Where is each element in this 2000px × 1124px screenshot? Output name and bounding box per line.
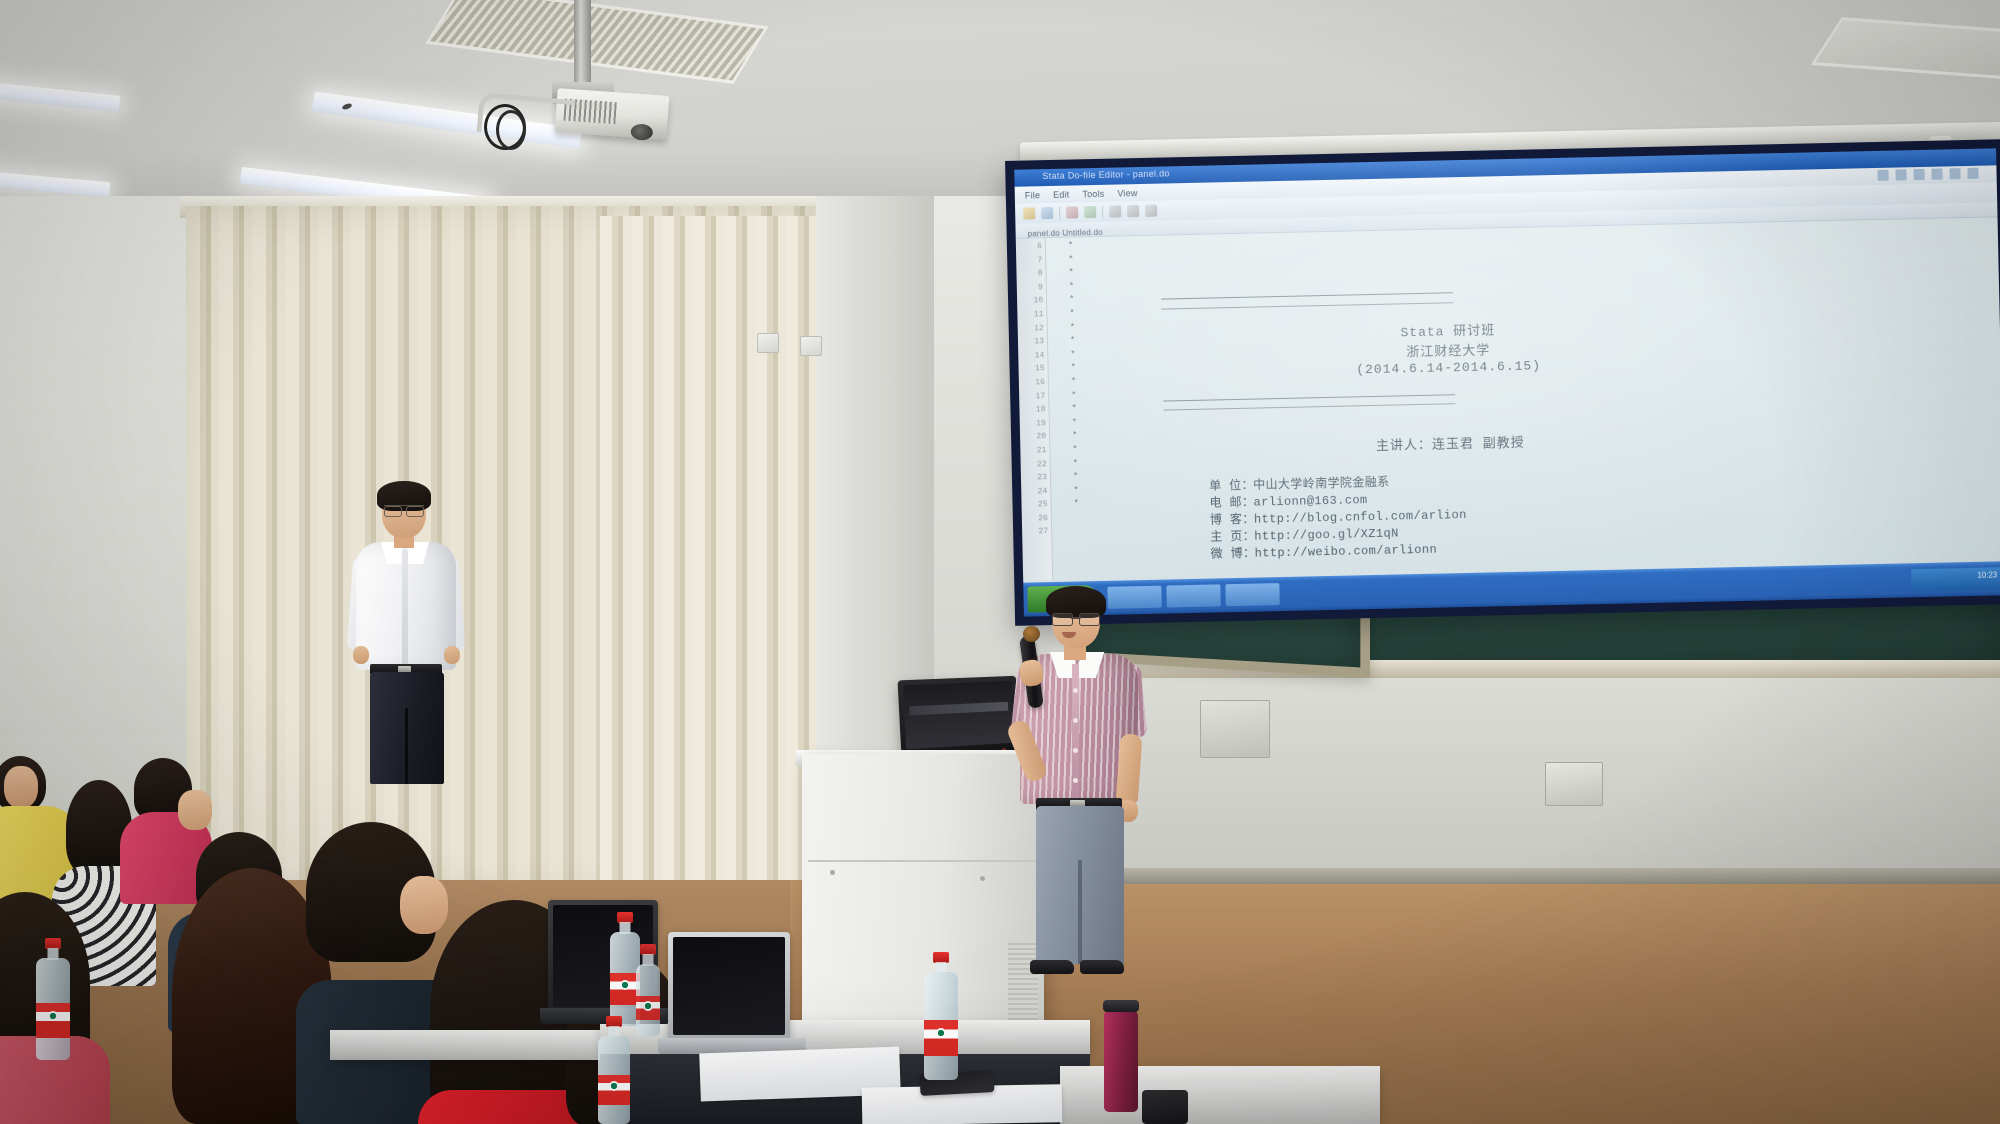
thermos-lid [1103,1000,1139,1012]
slide-contact-value: http://goo.gl/XZ1qN [1254,526,1399,543]
editor-line-number: 27 [1038,526,1048,540]
toolbar-right-icons [1877,168,1978,181]
slide-contact-value: http://blog.cnfol.com/arlion [1254,508,1467,527]
slide-rule-mid-1 [1163,394,1455,401]
projected-image: Stata Do-file Editor - panel.do File Edi… [1014,148,2000,616]
menu-item-tools[interactable]: Tools [1082,188,1104,198]
help-icon[interactable] [1967,168,1978,179]
editor-comment-marker: * [1070,348,1084,362]
glasses-icon [384,505,424,514]
underline-icon[interactable] [1913,169,1924,180]
standing-man-white-shirt [350,486,462,786]
copy-icon[interactable] [1127,205,1139,217]
podium-screw [980,876,985,881]
slide-rule-top-2 [1161,302,1453,309]
podium-screw [830,870,835,875]
dark-cup[interactable] [1142,1090,1188,1124]
editor-comment-marker: * [1071,389,1085,403]
bottle-label [924,1020,958,1057]
editor-comment-marker: * [1073,470,1087,484]
editor-line-number: 17 [1035,390,1045,404]
toolbar-separator [1059,206,1060,219]
slide-contact-block: 单 位：中山大学岭南学院金融系电 邮：arlionn@163.com博 客：ht… [1209,473,1468,564]
editor-comment-marker: * [1069,307,1083,321]
shirt-button [1073,748,1078,753]
dark-trousers [370,672,444,784]
run-icon[interactable] [1931,169,1942,180]
editor-line-number-gutter: 6789101112131415161718192021222324252627 [1016,238,1053,581]
shirt-button [1073,778,1078,783]
podium-panel-seam [808,860,1038,862]
editor-line-number: 6 [1037,240,1042,254]
editor-comment-marker: * [1072,430,1086,444]
slide-contact-label: 单 位： [1209,478,1253,496]
wall-access-panel[interactable] [1200,700,1270,758]
editor-line-number: 7 [1037,254,1042,268]
presenter-with-microphone [1018,592,1148,982]
print-icon[interactable] [1084,206,1096,218]
vertical-window-blinds-right [600,216,825,916]
audience-face [400,876,448,934]
editor-line-number: 21 [1037,444,1047,458]
editor-line-number: 20 [1036,430,1046,444]
thermos-flask[interactable] [1104,1010,1138,1112]
editor-comment-marker: * [1070,334,1084,348]
slide-contact-label: 博 客： [1210,512,1254,530]
editor-line-number: 18 [1036,403,1046,417]
editor-line-number: 12 [1034,322,1044,336]
slide-speaker-line: 主讲人：连玉君 副教授 [1240,429,1660,457]
editor-comment-marker: * [1068,266,1082,280]
menu-item-file[interactable]: File [1025,190,1041,200]
editor-comment-marker: * [1069,280,1083,294]
editor-line-number: 9 [1038,281,1043,295]
laptop-lid[interactable] [668,932,790,1040]
editor-line-number: 11 [1034,308,1044,322]
shirt-placket [402,550,408,666]
classroom-photo: Stata Do-file Editor - panel.do File Edi… [0,0,2000,1124]
editor-line-number: 24 [1038,485,1048,499]
laptop-screen [673,937,785,1035]
taskbar-item[interactable] [1225,583,1279,606]
editor-line-number: 16 [1035,376,1045,390]
editor-comment-marker: * [1073,498,1087,512]
audience-face [4,766,38,808]
shoe-right [1080,960,1124,974]
bottle-body [636,964,660,1036]
audience-face [178,790,212,830]
editor-comment-marker: * [1069,294,1083,308]
bottle-label [36,1003,70,1038]
editor-comment-marker: * [1073,457,1087,471]
editor-comment-marker: * [1071,375,1085,389]
editor-line-number: 25 [1038,498,1048,512]
open-file-icon[interactable] [1041,207,1053,219]
editor-line-number: 14 [1035,349,1045,363]
slide-contact-value: arlionn@163.com [1253,493,1367,509]
new-file-icon[interactable] [1023,207,1035,219]
editor-line-number: 8 [1038,267,1043,281]
editor-comment-marker: * [1073,484,1087,498]
bottle-body [924,972,958,1080]
slide-contact-value: http://weibo.com/arlionn [1255,543,1438,561]
window-title: Stata Do-file Editor - panel.do [1042,168,1170,181]
shirt-button [1073,718,1078,723]
editor-comment-marker: * [1068,239,1082,253]
power-outlet-plate[interactable] [800,336,822,356]
grey-trousers [1036,806,1124,964]
glasses-icon [1052,613,1100,624]
wall-outlet-box[interactable] [1545,762,1603,806]
editor-line-number: 13 [1034,335,1044,349]
bottle-label [598,1075,630,1105]
menu-item-edit[interactable]: Edit [1053,189,1070,199]
projection-screen: Stata Do-file Editor - panel.do File Edi… [1005,139,2000,626]
shoe-left [1030,960,1074,974]
editor-line-number: 19 [1036,417,1046,431]
editor-comment-marker: * [1072,443,1086,457]
slide-contact-value: 中山大学岭南学院金融系 [1253,476,1390,493]
projector-mount-pole [574,0,591,86]
editor-comment-marker: * [1071,402,1085,416]
editor-comment-marker: * [1072,416,1086,430]
editor-line-number: 26 [1038,512,1048,526]
cut-icon[interactable] [1109,205,1121,217]
slide-contact-label: 主 页： [1210,529,1254,547]
shirt-button [1073,688,1078,693]
menu-item-view[interactable]: View [1117,188,1137,198]
save-icon[interactable] [1066,206,1078,218]
do-icon[interactable] [1949,168,1960,179]
bottle-body [36,958,70,1060]
bold-icon[interactable] [1877,170,1888,181]
light-switch-plate[interactable] [757,333,779,353]
bottle-label [636,996,660,1020]
slide-contact-label: 微 博： [1211,546,1255,564]
right-hand [444,646,460,664]
taskbar-item[interactable] [1166,584,1220,607]
editor-line-number: 23 [1037,471,1047,485]
editor-line-number: 10 [1033,295,1043,309]
bottle-body [598,1036,630,1124]
projector-cable [496,110,526,150]
editor-comment-marker: * [1070,362,1084,376]
water-bottle[interactable] [636,944,660,1036]
slide-content: Stata 研讨班 浙江财经大学 (2014.6.14-2014.6.15) 主… [1084,218,1999,579]
taskbar-clock: 10:23 [1977,570,1997,579]
water-bottle[interactable] [36,938,70,1060]
editor-line-number: 22 [1037,458,1047,472]
italic-icon[interactable] [1895,169,1906,180]
editor-comment-marker: * [1070,321,1084,335]
right-forearm [1116,733,1143,806]
slide-rule-top-1 [1161,292,1453,299]
left-hand [353,646,369,664]
toolbar-separator [1102,205,1103,218]
editor-comment-marker: * [1068,253,1082,267]
baseboard [1092,868,2000,884]
water-bottle[interactable] [598,1016,630,1124]
editor-tab-label[interactable]: panel.do Untitled.do [1028,228,1103,239]
paste-icon[interactable] [1145,205,1157,217]
slide-contact-label: 电 邮： [1209,495,1253,513]
monitor-screen [903,681,1015,749]
slide-rule-mid-2 [1164,403,1456,410]
editor-line-number: 15 [1035,362,1045,376]
water-bottle[interactable] [924,952,958,1080]
